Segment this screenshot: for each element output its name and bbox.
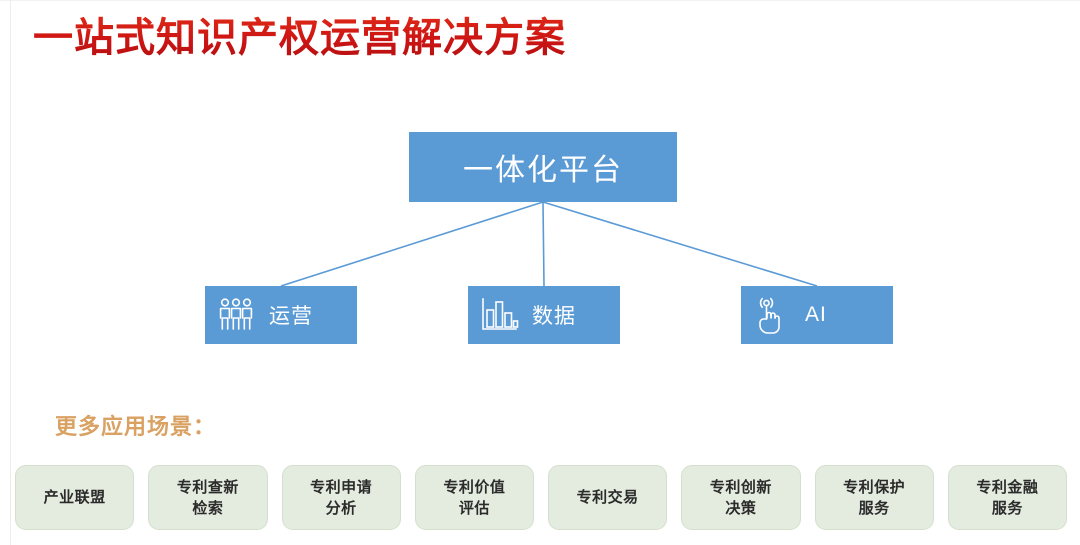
node-operation-label: 运营 [269, 300, 313, 330]
node-ai-label: AI [805, 303, 827, 327]
touch-hand-icon [749, 292, 795, 338]
more-scenarios-label: 更多应用场景： [55, 409, 216, 441]
node-data[interactable]: 数据 [468, 286, 620, 344]
node-ai[interactable]: AI [741, 286, 893, 344]
connector-lines [0, 0, 1080, 545]
chip-patent-novelty-search[interactable]: 专利查新 检索 [148, 465, 267, 530]
node-data-label: 数据 [532, 300, 576, 330]
chip-industry-alliance[interactable]: 产业联盟 [15, 465, 134, 530]
chip-patent-value-assessment[interactable]: 专利价值 评估 [415, 465, 534, 530]
chip-patent-protection-service[interactable]: 专利保护 服务 [815, 465, 934, 530]
node-integrated-platform-label: 一体化平台 [463, 145, 623, 189]
chip-patent-finance-service[interactable]: 专利金融 服务 [948, 465, 1067, 530]
node-operation[interactable]: 运营 [205, 286, 357, 344]
top-divider [0, 0, 1080, 1]
scenario-chip-row: 产业联盟 专利查新 检索 专利申请 分析 专利价值 评估 专利交易 专利创新 决… [15, 465, 1067, 530]
slide-canvas: 一站式知识产权运营解决方案 一体化平台 [0, 0, 1080, 545]
page-title: 一站式知识产权运营解决方案 [33, 12, 566, 64]
bar-chart-icon [476, 292, 522, 338]
connector-root-to-operation [281, 202, 543, 286]
chip-patent-trading[interactable]: 专利交易 [548, 465, 667, 530]
connector-root-to-ai [543, 202, 817, 286]
connector-root-to-data [543, 202, 544, 286]
org-diagram: 一体化平台 运营 [0, 0, 1080, 545]
node-integrated-platform[interactable]: 一体化平台 [409, 132, 677, 202]
three-people-icon [213, 292, 259, 338]
left-divider [10, 0, 11, 545]
chip-patent-application-analysis[interactable]: 专利申请 分析 [282, 465, 401, 530]
chip-patent-innovation-decision[interactable]: 专利创新 决策 [681, 465, 800, 530]
